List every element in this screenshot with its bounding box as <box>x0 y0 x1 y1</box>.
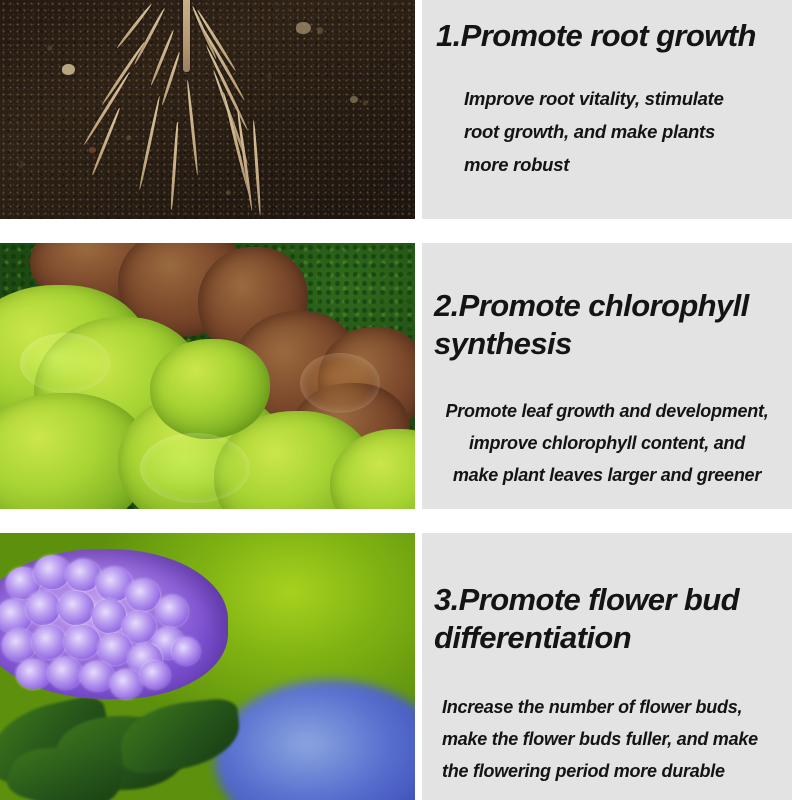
hydrangea-floret <box>48 657 82 689</box>
feature-section-1: 1.Promote root growth Improve root vital… <box>0 0 800 219</box>
hydrangea-floret <box>110 669 142 699</box>
hydrangea-floret <box>32 625 66 659</box>
feature-heading-1: 1.Promote root growth <box>436 17 756 55</box>
leaf-highlight <box>140 433 250 503</box>
hydrangea-floret <box>64 625 100 659</box>
plant-roots-in-soil-photo <box>0 0 415 219</box>
feature-body-3: Increase the number of flower buds, make… <box>442 691 758 787</box>
hydrangea-floret <box>172 637 200 665</box>
hydrangea-floret <box>98 633 132 665</box>
hydrangea-floret <box>34 555 70 589</box>
feature-body-1: Improve root vitality, stimulate root gr… <box>464 82 724 181</box>
purple-hydrangea-photo <box>0 533 415 800</box>
hydrangea-floret <box>26 591 60 625</box>
feature-body-2: Promote leaf growth and development, imp… <box>422 395 792 491</box>
hydrangea-floret <box>156 595 188 627</box>
feature-heading-3: 3.Promote flower bud differentiation <box>434 581 739 657</box>
leaf-highlight <box>300 353 380 413</box>
feature-section-3: 3.Promote flower bud differentiation Inc… <box>0 533 800 800</box>
soil-pebble <box>89 147 96 153</box>
hydrangea-floret <box>140 661 170 689</box>
hydrangea-floret <box>2 629 36 661</box>
hydrangea-floret <box>80 661 114 691</box>
hydrangea-floret <box>58 591 94 625</box>
hydrangea-floret <box>92 599 126 633</box>
feature-text-panel-1: 1.Promote root growth Improve root vital… <box>422 0 792 219</box>
hydrangea-floret <box>16 659 50 689</box>
hydrangea-floret <box>126 579 160 611</box>
hydrangea-floret <box>66 559 100 591</box>
feature-section-2: 2.Promote chlorophyll synthesis Promote … <box>0 243 800 509</box>
feature-text-panel-2: 2.Promote chlorophyll synthesis Promote … <box>422 243 792 509</box>
product-feature-infographic: 1.Promote root growth Improve root vital… <box>0 0 800 800</box>
leaf-highlight <box>20 333 110 393</box>
soil-grain-texture <box>0 0 415 219</box>
soil-pebble <box>350 96 358 103</box>
feature-text-panel-3: 3.Promote flower bud differentiation Inc… <box>422 533 792 800</box>
feature-heading-2: 2.Promote chlorophyll synthesis <box>434 287 749 363</box>
lettuce-garden-photo <box>0 243 415 509</box>
root-main-stem <box>183 0 190 72</box>
